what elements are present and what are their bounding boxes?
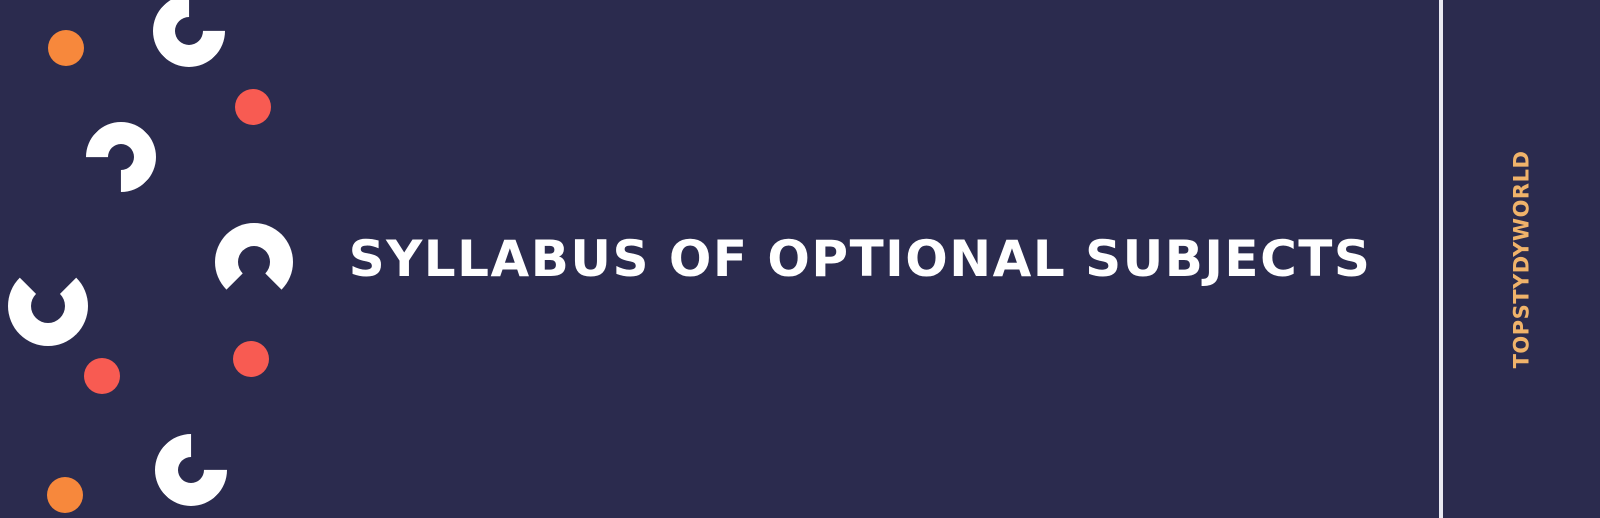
arc-middle-u <box>215 223 293 301</box>
page-title: SYLLABUS OF OPTIONAL SUBJECTS <box>349 234 1372 284</box>
decorative-shapes-layer <box>0 0 330 518</box>
arc-left-arch <box>8 266 88 346</box>
arc-upper-left <box>72 108 171 207</box>
arc-bottom-c <box>140 419 242 518</box>
dot-coral-upper <box>235 89 271 125</box>
dot-orange-bottom-left <box>47 477 83 513</box>
dot-orange-top-left <box>48 30 84 66</box>
title-container: SYLLABUS OF OPTIONAL SUBJECTS <box>300 0 1420 518</box>
site-watermark: TOPSTYDYWORLD <box>1511 150 1532 368</box>
watermark-rail: TOPSTYDYWORLD <box>1443 0 1600 518</box>
dot-coral-lower-left <box>84 358 120 394</box>
dot-coral-lower-right <box>233 341 269 377</box>
arc-top-c <box>138 0 240 82</box>
syllabus-banner: SYLLABUS OF OPTIONAL SUBJECTS TOPSTYDYWO… <box>0 0 1600 518</box>
